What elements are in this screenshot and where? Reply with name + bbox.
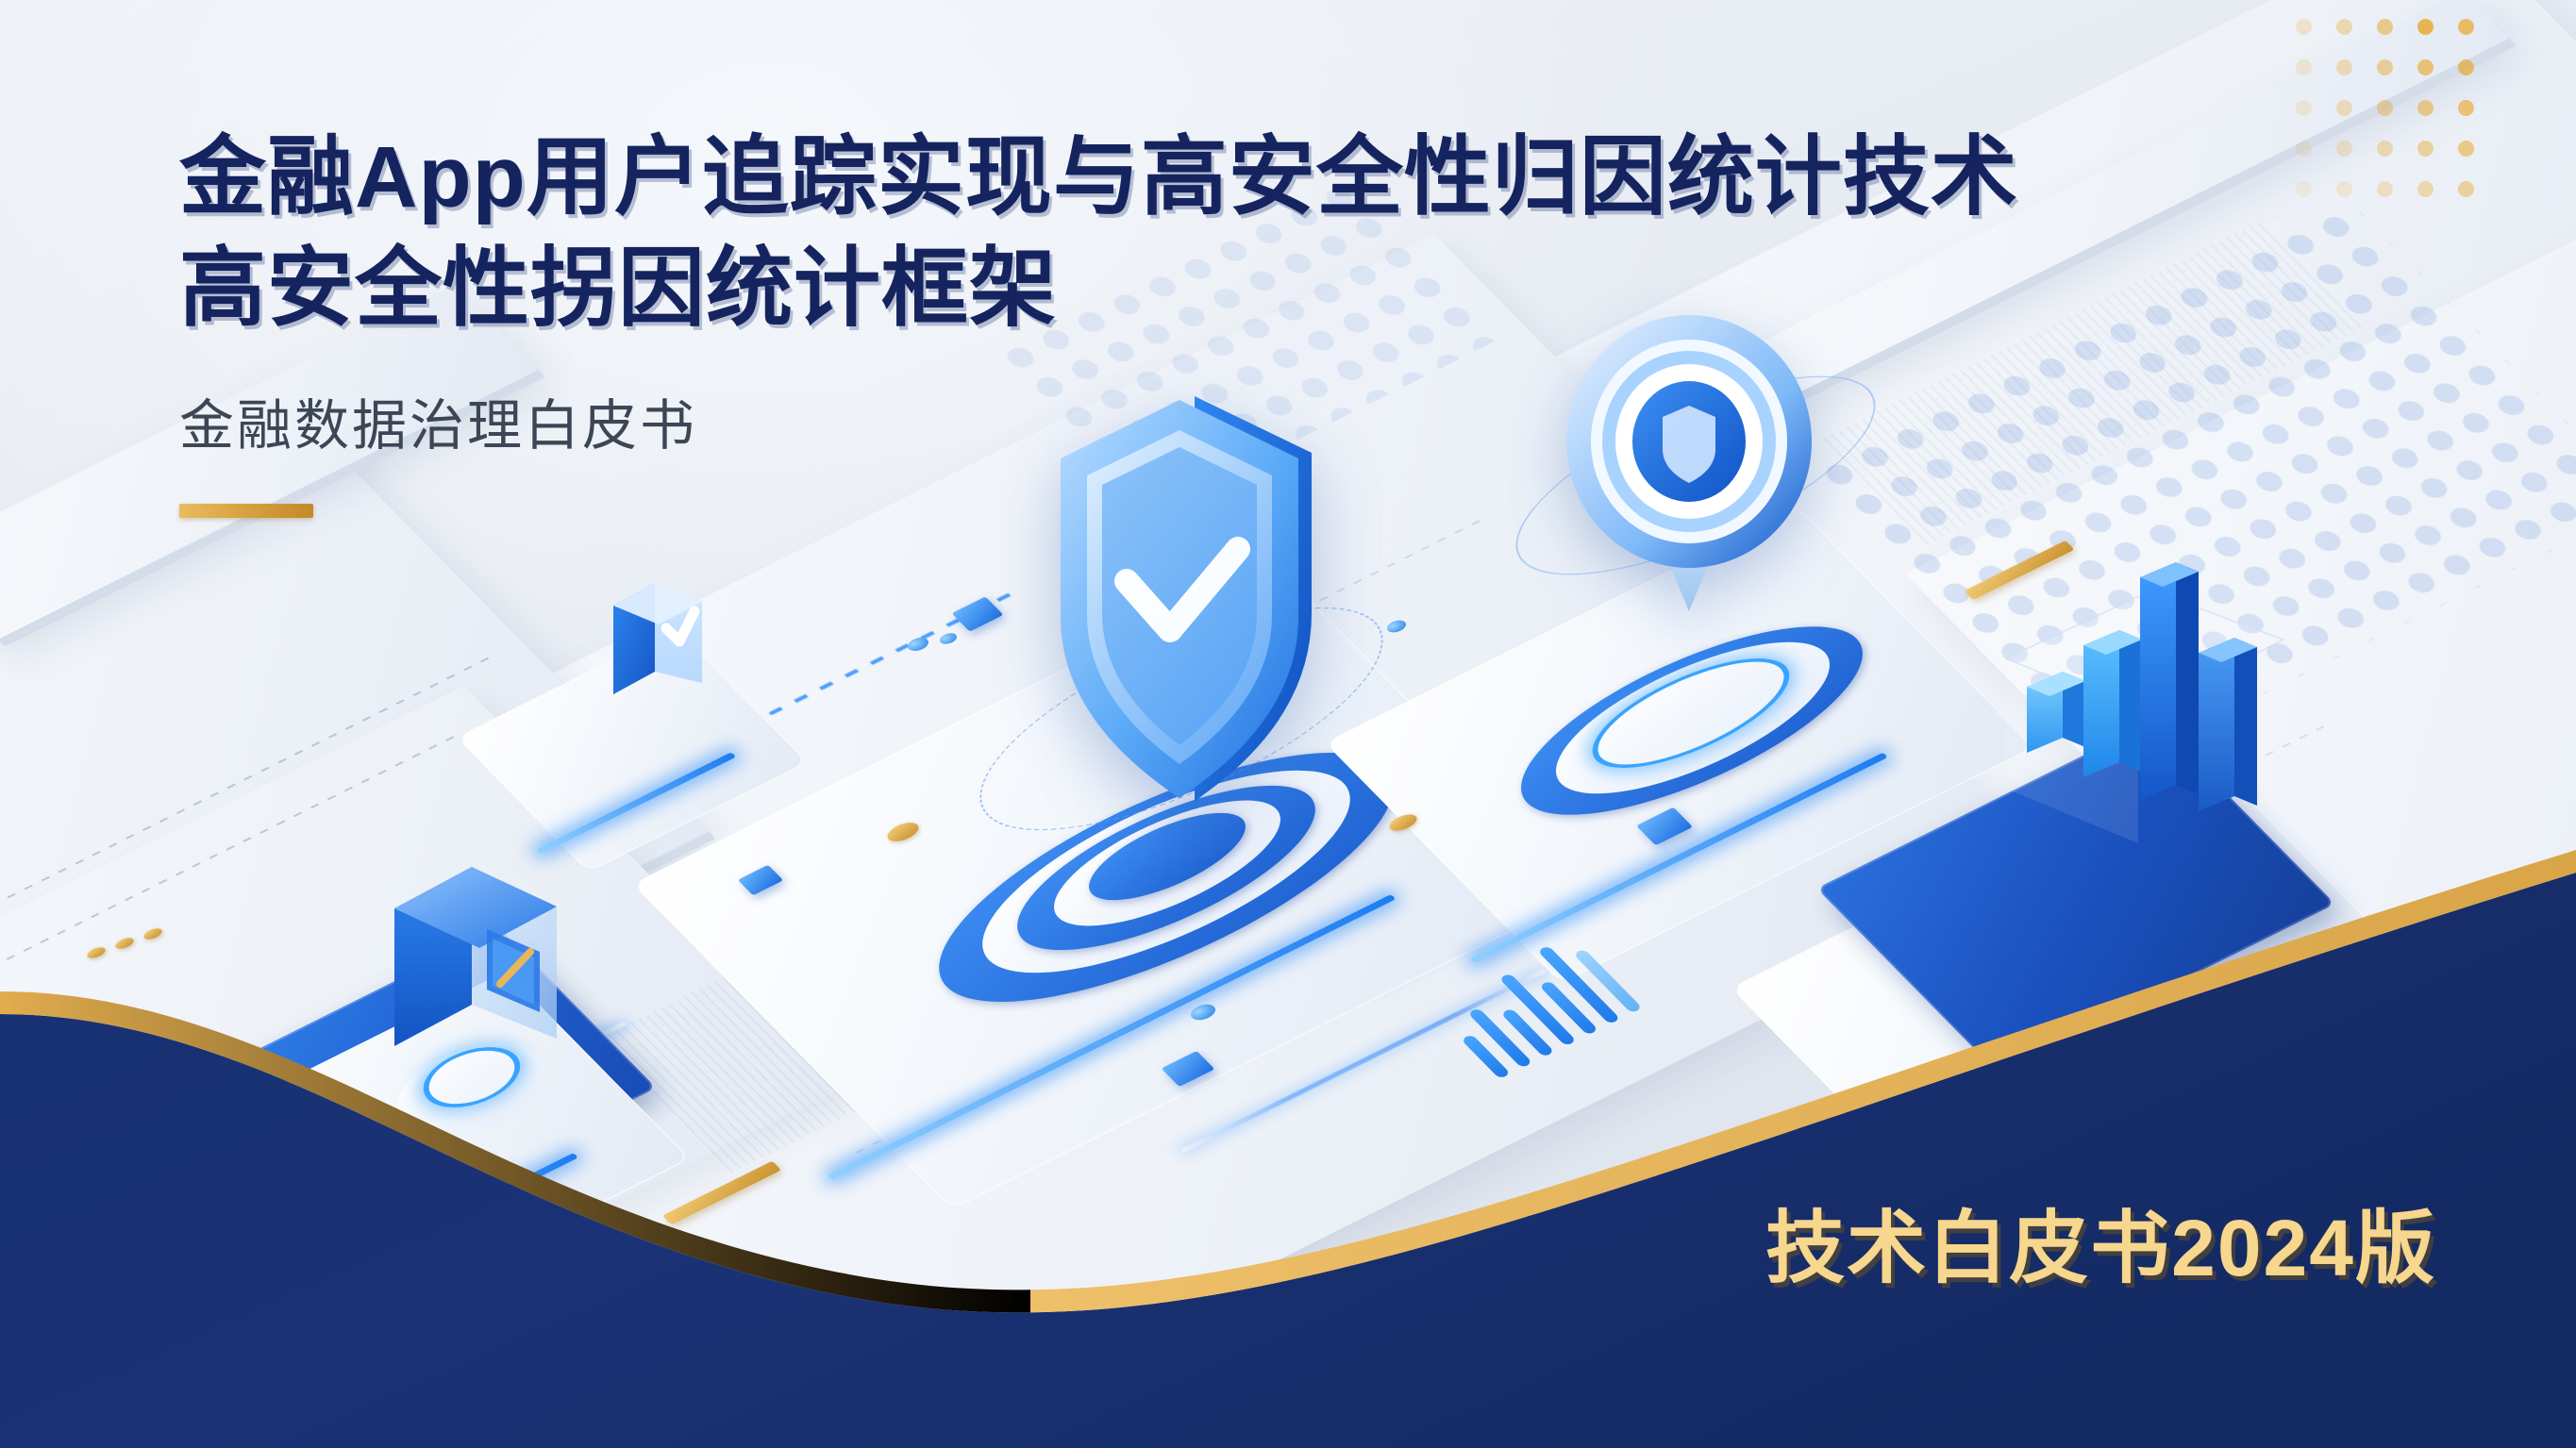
page-title-line-1: 金融App用户追踪实现与高安全性归因统计技术: [179, 123, 2018, 234]
page-subtitle: 金融数据治理白皮书: [179, 381, 2018, 460]
gold-accent-bar: [179, 504, 313, 518]
cover-slide: 金融App用户追踪实现与高安全性归因统计技术 高安全性拐因统计框架 金融数据治理…: [0, 0, 2576, 1448]
gold-dot-matrix: [2296, 19, 2474, 197]
title-block: 金融App用户追踪实现与高安全性归因统计技术 高安全性拐因统计框架 金融数据治理…: [179, 123, 2018, 518]
page-title-line-2: 高安全性拐因统计框架: [179, 234, 2018, 345]
navy-wave-with-gold-edge: [0, 731, 2576, 1448]
check-badge-svg: [604, 574, 717, 715]
edition-badge: 技术白皮书2024版: [1765, 1185, 2436, 1299]
check-badge-icon: [604, 574, 717, 715]
